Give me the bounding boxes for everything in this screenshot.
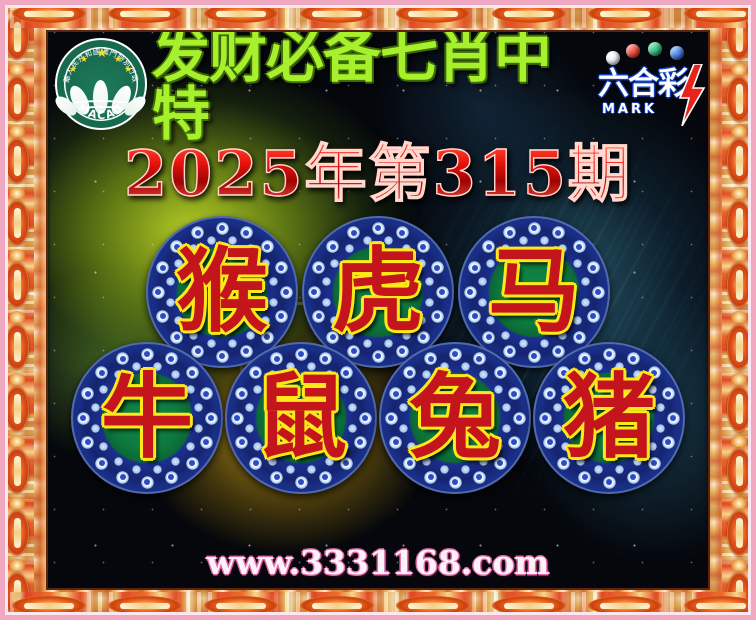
zodiac-character: 鼠 bbox=[225, 342, 377, 494]
headline-text: 发财必备七肖中特 bbox=[152, 32, 592, 143]
lottery-poster: 中華人民共和國澳門特別行政區 ★ ★ ★ ★ ★ bbox=[0, 0, 756, 620]
svg-text:MACAU: MACAU bbox=[75, 101, 126, 122]
brand-subtitle-text: MARK bbox=[602, 102, 657, 117]
lightning-bolt-icon bbox=[676, 64, 706, 126]
website-url[interactable]: www.3331168.com bbox=[48, 543, 708, 582]
headline: 发财必备七肖中特 bbox=[152, 48, 592, 122]
poster-header: 中華人民共和國澳門特別行政區 ★ ★ ★ ★ ★ bbox=[48, 32, 708, 136]
period-banner: 2025年第315期 bbox=[48, 136, 708, 212]
lottery-ball-blue bbox=[670, 46, 684, 60]
emblem-arc-bottom-label: MACAU bbox=[75, 101, 126, 122]
zodiac-character: 牛 bbox=[71, 342, 223, 494]
zodiac-plate-pig[interactable]: 猪 bbox=[533, 342, 685, 494]
zodiac-character: 兔 bbox=[379, 342, 531, 494]
lottery-ball-white bbox=[606, 51, 620, 65]
zodiac-row-bottom: 牛鼠兔猪 bbox=[48, 342, 708, 494]
lottery-ball-red bbox=[626, 44, 640, 58]
macau-sar-emblem: 中華人民共和國澳門特別行政區 ★ ★ ★ ★ ★ bbox=[55, 38, 147, 130]
zodiac-plate-rat[interactable]: 鼠 bbox=[225, 342, 377, 494]
period-text: 2025年第315期 bbox=[124, 143, 632, 205]
lottery-ball-green bbox=[648, 42, 662, 56]
emblem-arc-bottom-text: MACAU bbox=[55, 38, 147, 130]
lottery-balls bbox=[604, 42, 700, 64]
zodiac-plates: 猴虎马 牛鼠兔猪 bbox=[48, 212, 708, 527]
poster-inner-panel: 中華人民共和國澳門特別行政區 ★ ★ ★ ★ ★ bbox=[48, 32, 708, 588]
mark-six-brand-logo: 六合彩 MARK bbox=[596, 40, 704, 132]
zodiac-character: 猪 bbox=[533, 342, 685, 494]
zodiac-plate-rabbit[interactable]: 兔 bbox=[379, 342, 531, 494]
website-url-text[interactable]: www.3331168.com bbox=[207, 543, 550, 582]
zodiac-plate-ox[interactable]: 牛 bbox=[71, 342, 223, 494]
